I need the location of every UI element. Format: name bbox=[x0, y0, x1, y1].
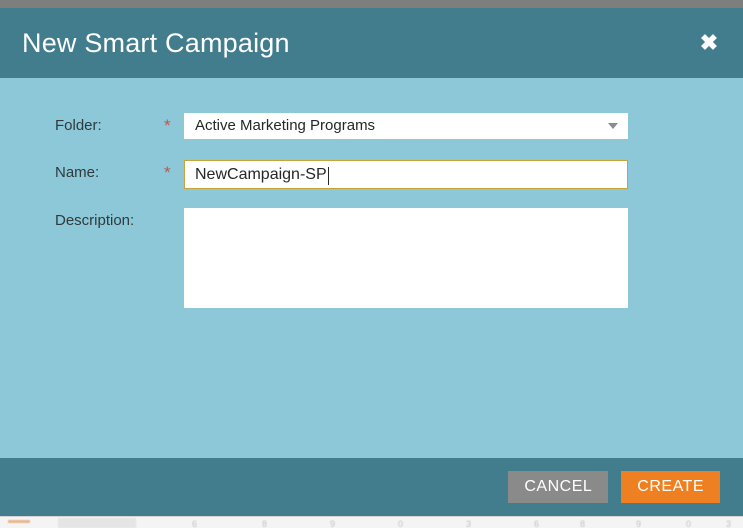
ghost-cell: 6 bbox=[534, 519, 539, 528]
folder-control: Active Marketing Programs bbox=[184, 113, 628, 139]
ghost-cell: 9 bbox=[330, 519, 335, 528]
ghost-cell: 3 bbox=[466, 519, 471, 528]
dialog-footer: CANCEL CREATE bbox=[0, 458, 743, 516]
ghost-accent bbox=[8, 520, 30, 523]
create-button[interactable]: CREATE bbox=[621, 471, 720, 503]
folder-label: Folder: bbox=[0, 113, 160, 139]
new-smart-campaign-dialog: New Smart Campaign ✖ Folder: * Active Ma… bbox=[0, 8, 743, 516]
ghost-cell: 0 bbox=[686, 519, 691, 528]
text-cursor bbox=[328, 167, 329, 185]
folder-selected-value: Active Marketing Programs bbox=[184, 113, 375, 139]
background-bottom-strip: 6890368903 bbox=[0, 516, 743, 528]
ghost-cell: 6 bbox=[192, 519, 197, 528]
description-control bbox=[184, 208, 628, 308]
screen: New Smart Campaign ✖ Folder: * Active Ma… bbox=[0, 0, 743, 528]
dialog-body: Folder: * Active Marketing Programs Name… bbox=[0, 78, 743, 458]
chevron-down-icon[interactable] bbox=[608, 123, 618, 129]
name-label: Name: bbox=[0, 160, 160, 186]
folder-required-marker: * bbox=[160, 113, 184, 139]
close-icon[interactable]: ✖ bbox=[695, 29, 723, 57]
name-input[interactable]: NewCampaign-SP bbox=[184, 160, 628, 189]
dialog-header: New Smart Campaign ✖ bbox=[0, 8, 743, 78]
dialog-title: New Smart Campaign bbox=[22, 30, 290, 57]
description-textarea[interactable] bbox=[184, 208, 628, 308]
ghost-cell: 3 bbox=[726, 519, 731, 528]
cancel-button[interactable]: CANCEL bbox=[508, 471, 608, 503]
ghost-cell: 9 bbox=[636, 519, 641, 528]
form-row-folder: Folder: * Active Marketing Programs bbox=[0, 113, 743, 139]
ghost-cell: 0 bbox=[398, 519, 403, 528]
description-textarea-value bbox=[184, 208, 628, 220]
folder-select[interactable]: Active Marketing Programs bbox=[184, 113, 628, 139]
ghost-block bbox=[58, 518, 136, 528]
background-ghost-row: 6890368903 bbox=[0, 517, 743, 528]
ghost-cell: 8 bbox=[580, 519, 585, 528]
name-required-marker: * bbox=[160, 160, 184, 186]
name-control: NewCampaign-SP bbox=[184, 160, 628, 189]
form-row-name: Name: * NewCampaign-SP bbox=[0, 160, 743, 189]
ghost-cell: 8 bbox=[262, 519, 267, 528]
description-label: Description: bbox=[0, 208, 160, 234]
name-input-value: NewCampaign-SP bbox=[185, 161, 327, 188]
form-row-description: Description: bbox=[0, 208, 743, 308]
background-top-strip bbox=[0, 0, 743, 8]
